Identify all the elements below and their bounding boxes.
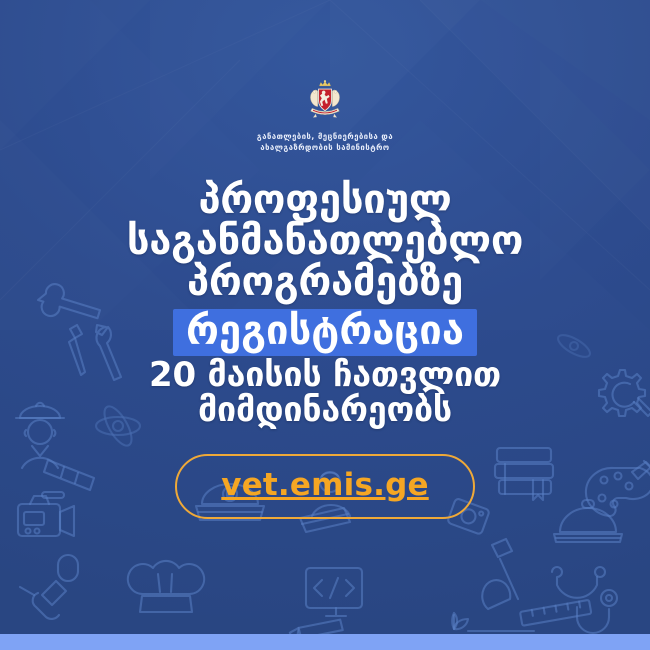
headline-line-3: პროგრამებზე	[0, 262, 650, 303]
headline-highlight-row: რეგისტრაცია	[0, 305, 650, 358]
headline-block: პროფესიულ საგანმანათლებლო პროგრამებზე რე…	[0, 180, 650, 428]
headline-line-5: 20 მაისის ჩათვლით	[0, 358, 650, 393]
ministry-name-line1: განათლების, მეცნიერებისა და	[257, 131, 393, 142]
bottom-accent-bar	[0, 634, 650, 650]
headline-line-1: პროფესიულ	[0, 180, 650, 221]
ministry-name-line2: ახალგაზრდობის სამინისტრო	[257, 142, 393, 153]
website-cta-button[interactable]: vet.emis.ge	[175, 454, 474, 519]
poster-content: განათლების, მეცნიერებისა და ახალგაზრდობი…	[0, 0, 650, 650]
ministry-branding: განათლების, მეცნიერებისა და ახალგაზრდობი…	[257, 78, 393, 154]
promo-poster: განათლების, მეცნიერებისა და ახალგაზრდობი…	[0, 0, 650, 650]
headline-line-2: საგანმანათლებლო	[0, 221, 650, 262]
georgia-coat-of-arms-icon	[302, 78, 348, 124]
headline-highlighted-word: რეგისტრაცია	[173, 309, 477, 356]
headline-line-6: მიმდინარეობს	[0, 393, 650, 428]
ministry-name: განათლების, მეცნიერებისა და ახალგაზრდობი…	[257, 131, 393, 154]
